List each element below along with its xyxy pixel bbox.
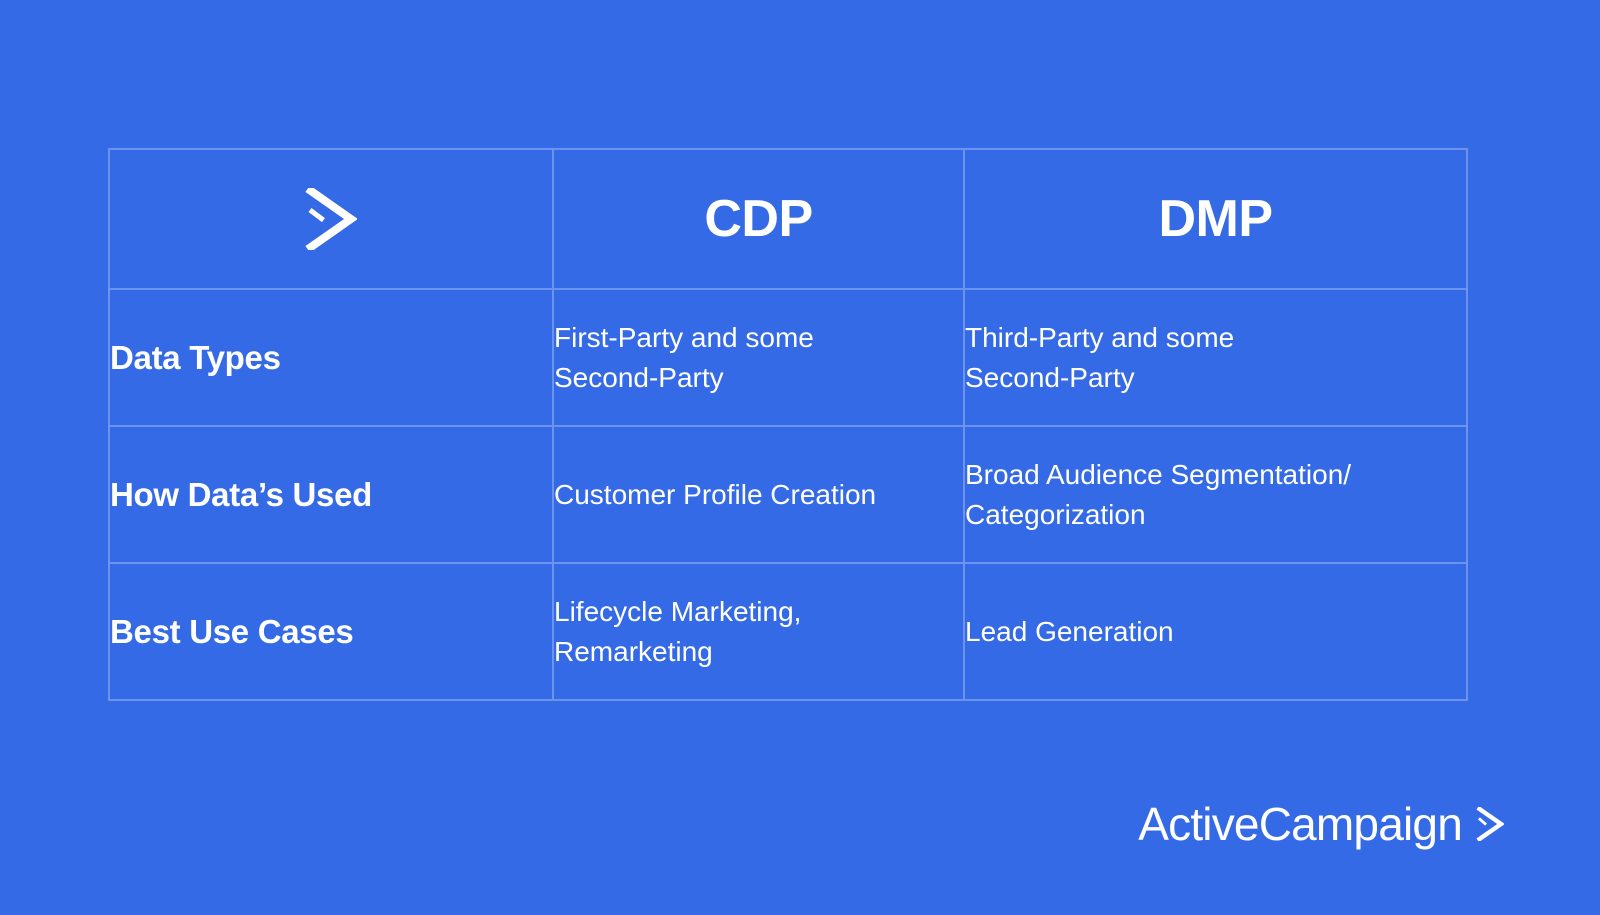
- row-label-data-types: Data Types: [109, 289, 553, 426]
- slide-canvas: CDP DMP Data Types First-Party and some …: [0, 0, 1600, 915]
- comparison-table: CDP DMP Data Types First-Party and some …: [108, 148, 1468, 701]
- cell-line: Second-Party: [554, 358, 963, 398]
- row-label-best-use-cases: Best Use Cases: [109, 563, 553, 700]
- cell-cdp-best-use-cases: Lifecycle Marketing, Remarketing: [553, 563, 964, 700]
- table-header-row: CDP DMP: [109, 149, 1467, 289]
- activecampaign-chevron-icon: [305, 188, 357, 250]
- cell-line: Second-Party: [965, 358, 1466, 398]
- cell-dmp-how-datas-used: Broad Audience Segmentation/ Categorizat…: [964, 426, 1467, 563]
- row-label-how-datas-used: How Data’s Used: [109, 426, 553, 563]
- cell-dmp-data-types: Third-Party and some Second-Party: [964, 289, 1467, 426]
- cell-line: Remarketing: [554, 632, 963, 672]
- cell-line: Lifecycle Marketing,: [554, 592, 963, 632]
- activecampaign-chevron-icon: [1476, 807, 1504, 841]
- cell-cdp-data-types: First-Party and some Second-Party: [553, 289, 964, 426]
- table-row: How Data’s Used Customer Profile Creatio…: [109, 426, 1467, 563]
- table-row: Data Types First-Party and some Second-P…: [109, 289, 1467, 426]
- comparison-table-container: CDP DMP Data Types First-Party and some …: [108, 148, 1466, 698]
- column-header-cdp: CDP: [553, 149, 964, 289]
- cell-line: Categorization: [965, 495, 1466, 535]
- cell-line: Lead Generation: [965, 612, 1466, 652]
- table-header-logo-cell: [109, 149, 553, 289]
- cell-line: Third-Party and some: [965, 318, 1466, 358]
- brand-wordmark: ActiveCampaign: [1138, 801, 1462, 847]
- table-row: Best Use Cases Lifecycle Marketing, Rema…: [109, 563, 1467, 700]
- column-header-dmp: DMP: [964, 149, 1467, 289]
- cell-dmp-best-use-cases: Lead Generation: [964, 563, 1467, 700]
- cell-line: First-Party and some: [554, 318, 963, 358]
- cell-line: Customer Profile Creation: [554, 475, 963, 515]
- footer-brand-logo: ActiveCampaign: [1138, 801, 1504, 847]
- cell-line: Broad Audience Segmentation/: [965, 455, 1466, 495]
- cell-cdp-how-datas-used: Customer Profile Creation: [553, 426, 964, 563]
